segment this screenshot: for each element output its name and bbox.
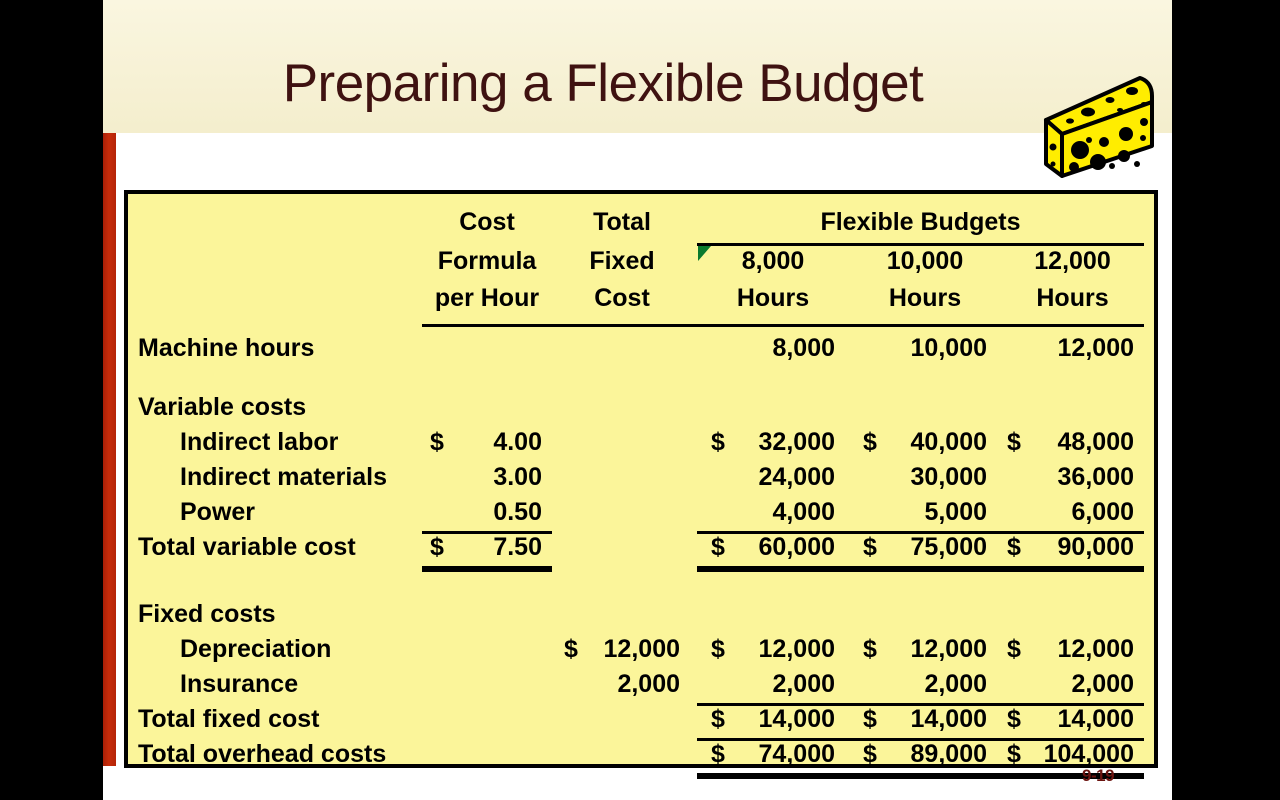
cell-value: 104,000 — [1001, 740, 1134, 769]
double-rule — [422, 566, 552, 572]
cell-value: 0.50 — [422, 498, 542, 527]
header-total: Total — [552, 208, 692, 237]
cell-value: 4.00 — [422, 428, 542, 457]
row-label: Insurance — [180, 670, 298, 699]
double-rule — [1001, 773, 1144, 779]
row-label: Indirect materials — [180, 463, 387, 492]
cell-value: 6,000 — [1001, 498, 1134, 527]
table-row: Indirect labor$4.00$32,000$40,000$48,000 — [128, 425, 1154, 460]
cell-value: 12,000 — [1001, 635, 1134, 664]
row-label: Machine hours — [138, 334, 314, 363]
table-row: Fixed costs — [128, 597, 1154, 632]
slide-canvas: Preparing a Flexible Budget — [0, 0, 1280, 800]
header-budget-2-unit: Hours — [849, 284, 1001, 313]
cell-value: 12,000 — [849, 635, 987, 664]
accent-bar — [103, 133, 116, 766]
table-row: Variable costs — [128, 390, 1154, 425]
cell-value: 3.00 — [422, 463, 542, 492]
row-label: Variable costs — [138, 393, 306, 422]
row-label: Power — [180, 498, 255, 527]
row-label: Total variable cost — [138, 533, 356, 562]
cell-value: 24,000 — [697, 463, 835, 492]
cell-value: 89,000 — [849, 740, 987, 769]
header-cost-2: Cost — [552, 284, 692, 313]
cell-value: 5,000 — [849, 498, 987, 527]
cell-value: 2,000 — [1001, 670, 1134, 699]
flexible-budget-panel: Cost Total Flexible Budgets Formula Fixe… — [124, 190, 1158, 768]
cell-value: 2,000 — [552, 670, 680, 699]
row-label: Total overhead costs — [138, 740, 386, 769]
table-row: Machine hours8,00010,00012,000 — [128, 331, 1154, 366]
cell-value: 12,000 — [697, 635, 835, 664]
cell-value: 2,000 — [697, 670, 835, 699]
header-formula: Formula — [422, 247, 552, 276]
cell-value: 60,000 — [697, 533, 835, 562]
cell-value: 12,000 — [1001, 334, 1134, 363]
cell-value: 14,000 — [849, 705, 987, 734]
double-rule — [849, 566, 1001, 572]
flexible-budgets-underline — [697, 243, 1144, 246]
cell-value: 32,000 — [697, 428, 835, 457]
table-row: Total fixed cost$14,000$14,000$14,000 — [128, 702, 1154, 737]
row-label: Total fixed cost — [138, 705, 320, 734]
page-title: Preparing a Flexible Budget — [103, 57, 1103, 110]
double-rule — [849, 773, 1001, 779]
row-label: Depreciation — [180, 635, 331, 664]
header-fixed: Fixed — [552, 247, 692, 276]
table-row: Total overhead costs$74,000$89,000$104,0… — [128, 737, 1154, 772]
cell-value: 14,000 — [1001, 705, 1134, 734]
cell-value: 48,000 — [1001, 428, 1134, 457]
cell-value: 12,000 — [552, 635, 680, 664]
table-row: Depreciation$12,000$12,000$12,000$12,000 — [128, 632, 1154, 667]
cell-value: 75,000 — [849, 533, 987, 562]
cell-value: 36,000 — [1001, 463, 1134, 492]
table-row: Power0.504,0005,0006,000 — [128, 495, 1154, 530]
table-row: Total variable cost$7.50$60,000$75,000$9… — [128, 530, 1154, 565]
double-rule — [1001, 566, 1144, 572]
cell-value: 10,000 — [849, 334, 987, 363]
cell-value: 2,000 — [849, 670, 987, 699]
cell-value: 90,000 — [1001, 533, 1134, 562]
cell-value: 14,000 — [697, 705, 835, 734]
table-row: Indirect materials3.0024,00030,00036,000 — [128, 460, 1154, 495]
cell-value: 7.50 — [422, 533, 542, 562]
header-budget-2-amount: 10,000 — [849, 247, 1001, 276]
header-bottom-rule — [422, 324, 1144, 327]
cell-value: 40,000 — [849, 428, 987, 457]
cell-value: 8,000 — [697, 334, 835, 363]
row-label: Fixed costs — [138, 600, 276, 629]
header-cost: Cost — [422, 208, 552, 237]
cell-value: 30,000 — [849, 463, 987, 492]
row-label: Indirect labor — [180, 428, 338, 457]
table-header: Cost Total Flexible Budgets Formula Fixe… — [128, 208, 1154, 321]
header-budget-3-unit: Hours — [1001, 284, 1144, 313]
header-flexible-budgets: Flexible Budgets — [697, 208, 1144, 237]
panel-surface: Cost Total Flexible Budgets Formula Fixe… — [128, 194, 1154, 764]
double-rule — [697, 566, 849, 572]
header-budget-1-amount: 8,000 — [697, 247, 849, 276]
cell-value: 4,000 — [697, 498, 835, 527]
header-budget-1-unit: Hours — [697, 284, 849, 313]
cell-value: 74,000 — [697, 740, 835, 769]
cheese-wedge-icon — [1040, 72, 1158, 182]
table-row: Insurance2,0002,0002,0002,000 — [128, 667, 1154, 702]
header-budget-3-amount: 12,000 — [1001, 247, 1144, 276]
double-rule — [697, 773, 849, 779]
page-number: 9-19 — [1082, 766, 1114, 786]
header-per-hour: per Hour — [422, 284, 552, 313]
